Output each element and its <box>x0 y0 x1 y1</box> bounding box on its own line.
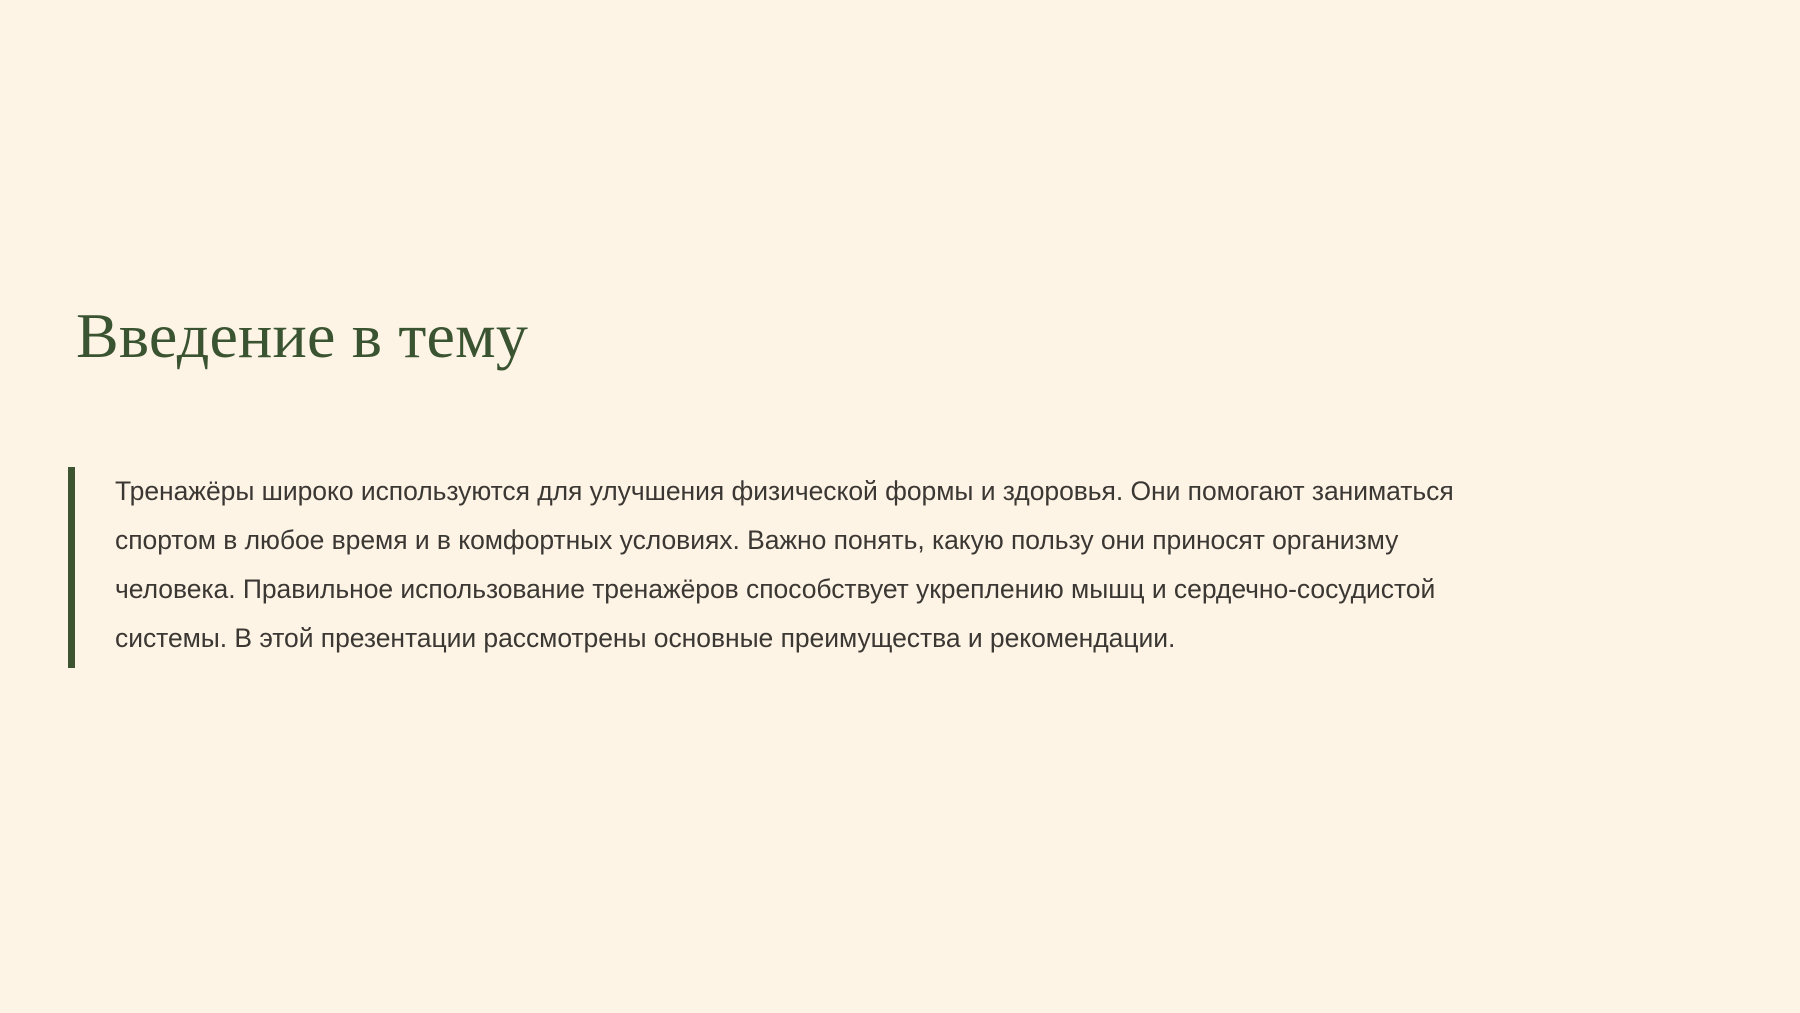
title-block: Введение в тему <box>76 300 1676 372</box>
page-title: Введение в тему <box>76 300 1676 372</box>
body-paragraph: Тренажёры широко используются для улучше… <box>115 467 1467 663</box>
presentation-slide: Введение в тему Тренажёры широко использ… <box>0 0 1800 1013</box>
body-block: Тренажёры широко используются для улучше… <box>68 467 1488 668</box>
accent-bar <box>68 467 75 668</box>
body-text-wrap: Тренажёры широко используются для улучше… <box>75 467 1488 668</box>
